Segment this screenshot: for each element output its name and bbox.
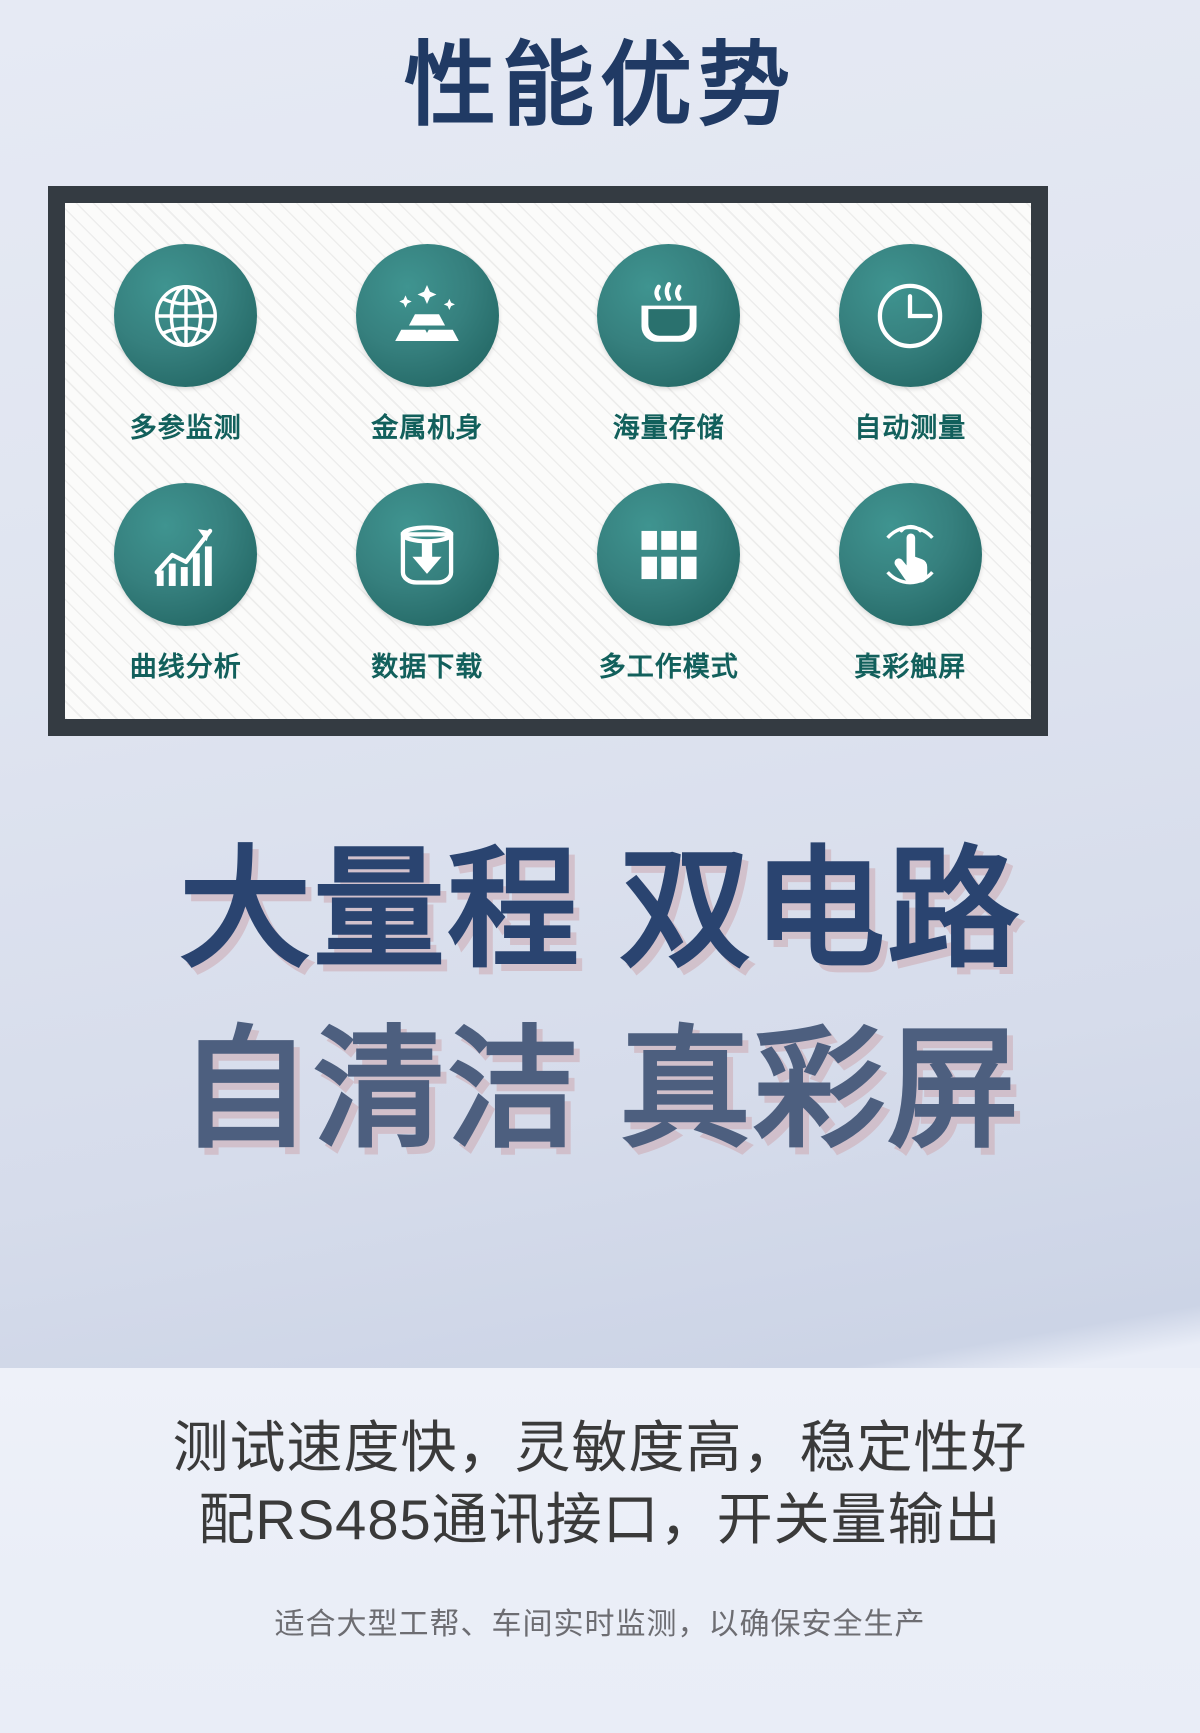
page-header: 性能优势 xyxy=(0,0,1200,137)
slogan-line-1: 大量程双电路 xyxy=(0,820,1200,1000)
feature-icon-badge xyxy=(839,483,982,626)
feature-label: 曲线分析 xyxy=(130,645,242,684)
features-panel: 多参监测 金属机身 xyxy=(48,186,1048,736)
feature-label: 数据下载 xyxy=(371,645,483,684)
steaming-pot-icon xyxy=(626,273,712,359)
download-bucket-icon xyxy=(384,512,470,598)
slogan-line-2-part-b: 真彩屏 xyxy=(619,1016,1021,1163)
globe-icon xyxy=(143,273,229,359)
feature-item-auto-measure[interactable]: 自动测量 xyxy=(805,244,1015,445)
clock-icon xyxy=(867,273,953,359)
feature-label: 自动测量 xyxy=(854,406,966,445)
bar-chart-trend-icon xyxy=(143,512,229,598)
feature-item-metal-body[interactable]: 金属机身 xyxy=(322,244,532,445)
description-note: 适合大型工帮、车间实时监测，以确保安全生产 xyxy=(275,1599,926,1643)
page-title: 性能优势 xyxy=(0,36,1200,137)
slogan-line-1-part-a: 大量程 xyxy=(179,836,581,983)
description-band: 测试速度快，灵敏度高，稳定性好 配RS485通讯接口，开关量输出 适合大型工帮、… xyxy=(0,1368,1200,1733)
slogan-line-1-part-b: 双电路 xyxy=(619,836,1021,983)
feature-row-2: 曲线分析 数据下载 xyxy=(65,483,1031,684)
feature-label: 真彩触屏 xyxy=(854,645,966,684)
features-panel-inner: 多参监测 金属机身 xyxy=(65,203,1031,719)
feature-icon-badge xyxy=(597,244,740,387)
feature-label: 海量存储 xyxy=(613,406,725,445)
slogan-block: 大量程双电路 自清洁真彩屏 xyxy=(0,820,1200,1179)
feature-icon-badge xyxy=(114,244,257,387)
feature-label: 多参监测 xyxy=(130,406,242,445)
gold-ingots-icon xyxy=(384,273,470,359)
feature-icon-badge xyxy=(839,244,982,387)
description-line-2: 配RS485通讯接口，开关量输出 xyxy=(198,1484,1001,1556)
feature-item-true-color-touch[interactable]: 真彩触屏 xyxy=(805,483,1015,684)
feature-icon-badge xyxy=(597,483,740,626)
touch-hand-icon xyxy=(867,512,953,598)
feature-label: 多工作模式 xyxy=(599,645,739,684)
description-line-1: 测试速度快，灵敏度高，稳定性好 xyxy=(173,1412,1028,1484)
feature-icon-badge xyxy=(356,483,499,626)
feature-label: 金属机身 xyxy=(371,406,483,445)
feature-icon-badge xyxy=(356,244,499,387)
feature-item-multi-param-monitor[interactable]: 多参监测 xyxy=(81,244,291,445)
slogan-line-2-part-a: 自清洁 xyxy=(179,1016,581,1163)
feature-item-mass-storage[interactable]: 海量存储 xyxy=(564,244,774,445)
slogan-line-2: 自清洁真彩屏 xyxy=(0,1000,1200,1180)
feature-row-1: 多参监测 金属机身 xyxy=(65,244,1031,445)
pot-inner xyxy=(648,309,689,336)
grid-blocks-icon xyxy=(626,512,712,598)
feature-icon-badge xyxy=(114,483,257,626)
feature-item-data-download[interactable]: 数据下载 xyxy=(322,483,532,684)
feature-item-multi-work-mode[interactable]: 多工作模式 xyxy=(564,483,774,684)
feature-item-curve-analysis[interactable]: 曲线分析 xyxy=(81,483,291,684)
